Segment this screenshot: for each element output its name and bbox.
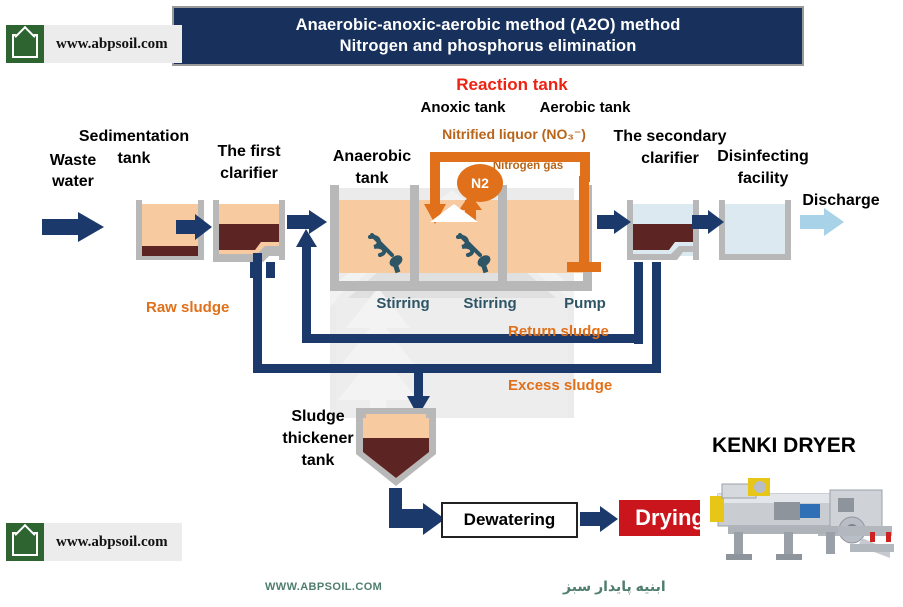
- first-clarifier-tank: [213, 200, 285, 260]
- anaerobic-tank-label-line1: Anaerobic: [322, 148, 422, 166]
- kenki-dryer-machine-image: [700, 468, 900, 564]
- tank-peak-shape: [430, 204, 478, 222]
- raw-sludge-stub-2: [266, 262, 275, 278]
- sludge-thickener-label-line1: Sludge: [272, 408, 364, 426]
- aerobic-tank-label: Aerobic tank: [524, 100, 646, 117]
- flow-arrow-sed-to-clarifier-icon: [176, 214, 212, 240]
- reaction-tank-label: Reaction tank: [452, 75, 572, 94]
- sludge-thickener-label-line3: tank: [272, 452, 364, 470]
- raw-sludge-label: Raw sludge: [146, 300, 266, 317]
- title-banner: Anaerobic-anoxic-aerobic method (A2O) me…: [172, 6, 804, 66]
- thickener-shape: [356, 408, 436, 486]
- logo-text-bottom: www.abpsoil.com: [44, 534, 182, 551]
- tank-wall-bottom: [719, 254, 791, 260]
- dewatering-box[interactable]: Dewatering: [441, 502, 578, 538]
- disinfecting-facility-tank: [719, 200, 791, 260]
- tank-wall-bottom: [213, 244, 285, 262]
- tank-wall-bottom: [627, 244, 699, 262]
- title-line-1: Anaerobic-anoxic-aerobic method (A2O) me…: [296, 15, 681, 36]
- pump-base: [567, 262, 601, 272]
- excess-sludge-label: Excess sludge: [508, 378, 638, 395]
- excess-sludge-downline: [652, 262, 661, 370]
- nitrified-liquor-uppipe-right: [580, 152, 590, 182]
- stirring-label-1: Stirring: [358, 296, 448, 313]
- nitrified-liquor-downpipe: [430, 152, 440, 208]
- drying-inflow-arrow-icon: [580, 506, 618, 532]
- reaction-divider-2: [498, 185, 507, 281]
- house-logo-icon: [6, 25, 44, 63]
- logo-bottom[interactable]: www.abpsoil.com: [6, 523, 182, 561]
- first-clarifier-label-line1: The first: [200, 143, 298, 161]
- tank-liquid: [725, 204, 785, 256]
- tank-wall-bottom: [136, 256, 204, 260]
- footer-persian-text: ابنیه پایدار سبز: [563, 578, 666, 595]
- return-sludge-label: Return sludge: [508, 324, 638, 341]
- discharge-arrow-icon: [800, 208, 844, 236]
- sedimentation-tank-label-line2: tank: [66, 150, 202, 168]
- title-line-2: Nitrogen and phosphorus elimination: [340, 36, 637, 57]
- tank-wall-left: [136, 200, 142, 260]
- footer-website: WWW.ABPSOIL.COM: [265, 581, 382, 593]
- nitrified-liquor-label: Nitrified liquor (NO₃⁻): [424, 127, 604, 143]
- stirrer-icon: [366, 233, 408, 275]
- pump-riser: [579, 176, 589, 268]
- stirring-label-2: Stirring: [445, 296, 535, 313]
- reaction-divider-1: [410, 185, 419, 281]
- reaction-wall-bottom: [330, 281, 592, 291]
- sludge-thickener-tank: [356, 408, 436, 486]
- stirrer-icon: [454, 233, 496, 275]
- flow-arrow-secondary-to-disinfect-icon: [692, 210, 724, 234]
- kenki-dryer-label: KENKI DRYER: [712, 434, 856, 458]
- first-clarifier-label-line2: clarifier: [200, 165, 298, 183]
- waste-water-label-line2: water: [36, 173, 110, 191]
- secondary-clarifier-tank: [627, 200, 699, 260]
- reaction-wall-left: [330, 185, 339, 285]
- wastewater-inflow-arrow-icon: [42, 212, 104, 242]
- disinfecting-facility-label-line1: Disinfecting: [705, 148, 821, 166]
- raw-sludge-up-arrow-icon: [296, 229, 317, 247]
- flow-arrow-reaction-to-secondary-icon: [597, 210, 631, 234]
- disinfecting-facility-label-line2: facility: [705, 170, 821, 188]
- logo-text-top: www.abpsoil.com: [44, 36, 182, 53]
- tank-wall-right: [785, 200, 791, 260]
- sludge-thickener-label-line2: thickener: [272, 430, 364, 448]
- excess-sludge-horizontal: [253, 364, 661, 373]
- excess-sludge-dropline: [414, 364, 423, 400]
- sedimentation-tank-label-line1: Sedimentation: [66, 128, 202, 146]
- anoxic-tank-label: Anoxic tank: [403, 100, 523, 117]
- secondary-clarifier-label-line1: The secondary: [602, 128, 738, 146]
- house-logo-icon: [6, 523, 44, 561]
- logo-top[interactable]: www.abpsoil.com: [6, 25, 182, 63]
- raw-sludge-upline: [302, 243, 311, 343]
- nitrified-liquor-top-pipe: [430, 152, 590, 162]
- pump-label: Pump: [548, 296, 622, 313]
- tank-sludge: [142, 246, 198, 256]
- dewatering-inflow-arrow-icon: [389, 503, 445, 535]
